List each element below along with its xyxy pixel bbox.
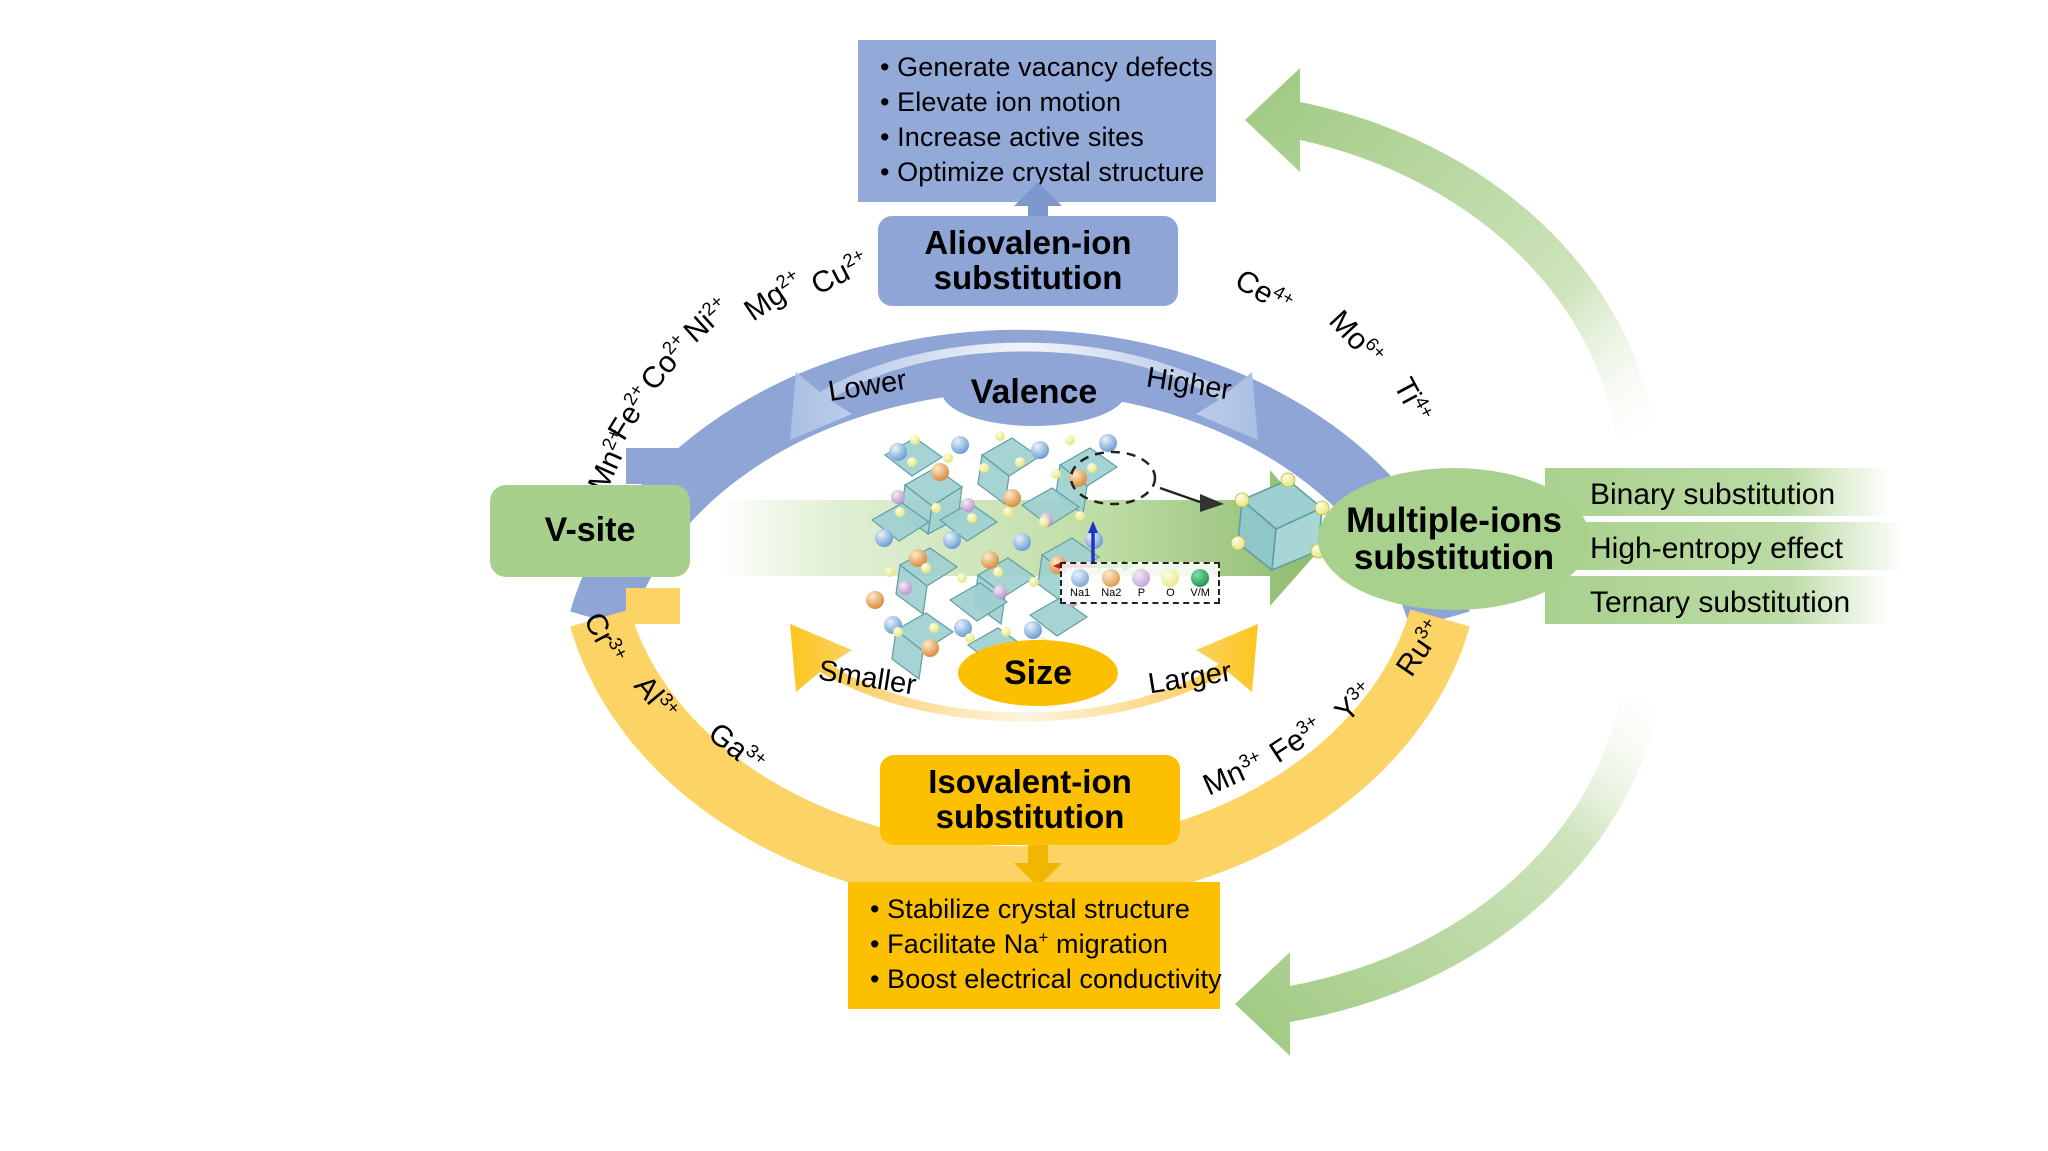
legend-item-na2: Na2 [1101,569,1121,599]
valence-label: Valence [971,374,1098,410]
p-label: P [1138,588,1145,599]
crystal-legend: Na1 Na2 P O V/M [1060,562,1220,604]
size-ellipse: Size [958,640,1118,706]
stripe-high-entropy-effect: High-entropy effect [1590,532,1843,566]
isovalent-effect-1: • Stabilize crystal structure [870,892,1202,927]
p-dot [1132,569,1150,587]
legend-item-na1: Na1 [1070,569,1090,599]
aliovalent-plate-line2: substitution [924,261,1131,296]
aliovalent-effect-3: • Increase active sites [880,120,1198,155]
vm-dot [1191,569,1209,587]
multiple-ions-ellipse[interactable]: Multiple-ions substitution [1318,468,1590,610]
isovalent-effects-box: • Stabilize crystal structure • Facilita… [848,882,1220,1009]
vm-label: V/M [1190,588,1210,599]
diagram-canvas: • Generate vacancy defects • Elevate ion… [0,0,2048,1151]
aliovalent-effects-box: • Generate vacancy defects • Elevate ion… [858,40,1216,202]
na2-label: Na2 [1101,588,1121,599]
vsite-yellow-stub [626,588,680,624]
na1-dot [1071,569,1089,587]
multiple-line1: Multiple-ions [1346,501,1562,540]
isovalent-plate-line2: substitution [928,800,1132,835]
isovalent-substitution-plate[interactable]: Isovalent-ion substitution [880,755,1180,845]
aliovalent-plate-line1: Aliovalen-ion [924,226,1131,261]
aliovalent-substitution-plate[interactable]: Aliovalen-ion substitution [878,216,1178,306]
aliovalent-effect-1: • Generate vacancy defects [880,50,1198,85]
isovalent-plate-line1: Isovalent-ion [928,765,1132,800]
aliovalent-effect-2: • Elevate ion motion [880,85,1198,120]
vsite-blue-stub [626,448,680,484]
v-site-plate[interactable]: V-site [490,485,690,577]
isovalent-down-arrow [1010,845,1066,887]
o-label: O [1166,588,1175,599]
isovalent-effect-3: • Boost electrical conductivity [870,962,1202,997]
multiple-line2: substitution [1354,538,1554,577]
stripe-binary-substitution: Binary substitution [1590,478,1835,512]
stripe-ternary-substitution: Ternary substitution [1590,586,1850,620]
legend-item-vm: V/M [1190,569,1210,599]
size-label: Size [1004,655,1072,691]
na2-dot [1102,569,1120,587]
v-site-label: V-site [545,513,636,549]
na1-label: Na1 [1070,588,1090,599]
valence-ellipse: Valence [942,358,1126,426]
legend-item-p: P [1132,569,1150,599]
isovalent-effect-2: • Facilitate Na+ migration [870,927,1202,962]
o-dot [1161,569,1179,587]
legend-item-o: O [1161,569,1179,599]
green-cycle-arrow-top [1245,68,1655,437]
